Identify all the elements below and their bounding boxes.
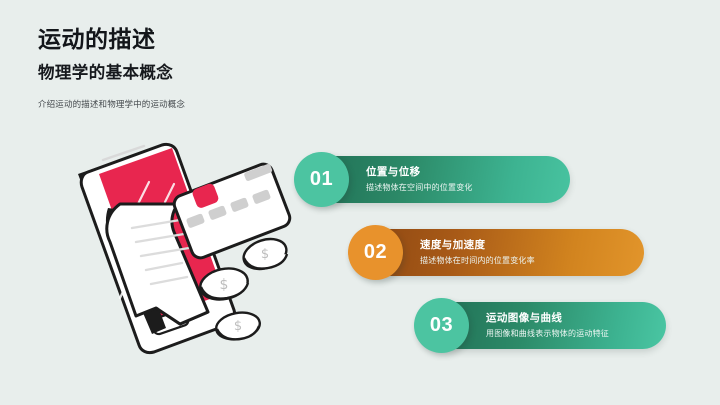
page-description: 介绍运动的描述和物理学中的运动概念 bbox=[38, 98, 458, 110]
svg-text:$: $ bbox=[220, 277, 229, 293]
mobile-payment-illustration: $ $ $ bbox=[48, 138, 304, 374]
svg-text:$: $ bbox=[261, 247, 269, 262]
card-text-01: 位置与位移 描述物体在空间中的位置变化 bbox=[366, 166, 485, 193]
page-subtitle: 物理学的基本概念 bbox=[38, 64, 458, 84]
card-number-badge-02: 02 bbox=[348, 225, 403, 280]
slide-canvas: 运动的描述 物理学的基本概念 介绍运动的描述和物理学中的运动概念 bbox=[0, 0, 720, 405]
card-text-02: 速度与加速度 描述物体在时间内的位置变化率 bbox=[420, 239, 547, 266]
card-title-02: 速度与加速度 bbox=[420, 239, 535, 252]
concept-card-01[interactable]: 01 位置与位移 描述物体在空间中的位置变化 bbox=[298, 156, 570, 203]
card-description-03: 用图像和曲线表示物体的运动特征 bbox=[486, 329, 609, 339]
card-title-01: 位置与位移 bbox=[366, 166, 473, 179]
card-description-02: 描述物体在时间内的位置变化率 bbox=[420, 256, 535, 266]
concept-card-03[interactable]: 03 运动图像与曲线 用图像和曲线表示物体的运动特征 bbox=[418, 302, 666, 349]
card-title-03: 运动图像与曲线 bbox=[486, 312, 609, 325]
card-description-01: 描述物体在空间中的位置变化 bbox=[366, 183, 473, 193]
svg-text:$: $ bbox=[234, 319, 242, 334]
card-number-badge-03: 03 bbox=[414, 298, 469, 353]
header-block: 运动的描述 物理学的基本概念 介绍运动的描述和物理学中的运动概念 bbox=[38, 26, 458, 110]
card-text-03: 运动图像与曲线 用图像和曲线表示物体的运动特征 bbox=[486, 312, 621, 339]
concept-card-02[interactable]: 02 速度与加速度 描述物体在时间内的位置变化率 bbox=[352, 229, 644, 276]
page-title: 运动的描述 bbox=[38, 26, 458, 52]
card-number-badge-01: 01 bbox=[294, 152, 349, 207]
